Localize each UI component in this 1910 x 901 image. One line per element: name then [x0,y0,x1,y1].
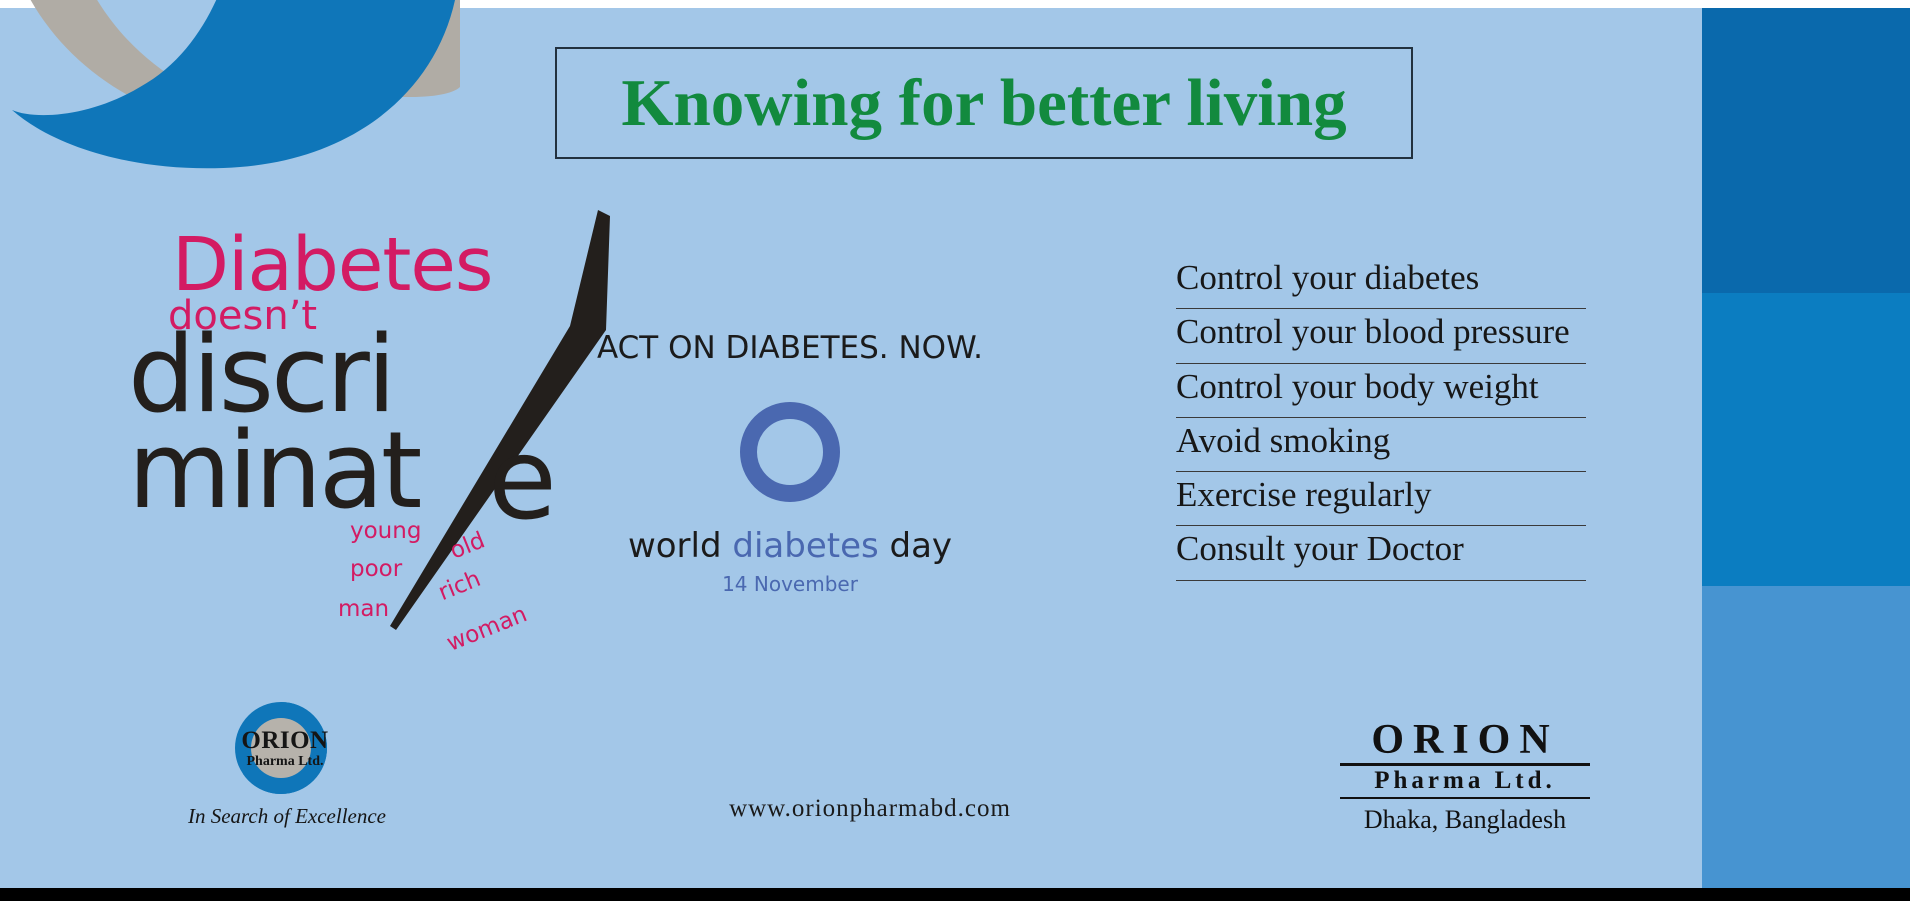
advice-item: Control your body weight [1176,364,1586,418]
advice-item-label: Avoid smoking [1176,421,1586,461]
orion-right-name: ORION [1340,718,1590,766]
advice-item-label: Control your diabetes [1176,258,1586,298]
wdd-word-diabetes: diabetes [732,526,878,566]
act-on-diabetes-line: ACT ON DIABETES. NOW. [560,330,1020,366]
orion-logo-right: ORION Pharma Ltd. Dhaka, Bangladesh [1340,718,1590,835]
advice-item: Control your diabetes [1176,258,1586,309]
wordart-diabetes: Diabetes [172,228,492,302]
advice-item-label: Consult your Doctor [1176,529,1586,569]
right-band-light [1702,586,1910,888]
advice-item: Exercise regularly [1176,472,1586,526]
wordart-e: e [488,424,557,536]
page-title: Knowing for better living [621,65,1346,142]
tagword-man: man [338,596,389,622]
advice-list: Control your diabetes Control your blood… [1176,258,1586,581]
poster-canvas: Knowing for better living Diabetes doesn… [0,0,1910,901]
orion-logo-left-wordmark: ORION Pharma Ltd. [215,728,355,771]
bottom-black-strip [0,888,1910,901]
advice-item: Consult your Doctor [1176,526,1586,580]
orion-left-name: ORION [215,728,355,753]
right-band-mid [1702,293,1910,586]
right-band-dark [1702,8,1910,293]
world-diabetes-day-label: world diabetes day [560,526,1020,566]
headline-box: Knowing for better living [555,47,1413,159]
advice-item-label: Control your body weight [1176,367,1586,407]
orion-right-subname: Pharma Ltd. [1340,766,1590,799]
advice-item: Control your blood pressure [1176,309,1586,363]
wdd-word-world: world [628,526,722,566]
swoosh-decoration-icon [0,0,460,182]
website-url[interactable]: www.orionpharmabd.com [700,795,1040,823]
orion-left-subname: Pharma Ltd. [215,753,355,771]
orion-tagline: In Search of Excellence [147,804,427,829]
wordart-minat: minat [128,418,419,524]
tagword-young: young [350,518,421,544]
orion-logo-left: ORION Pharma Ltd. In Search of Excellenc… [215,700,515,830]
center-block: ACT ON DIABETES. NOW. world diabetes day… [560,330,1020,610]
wdd-word-day: day [890,526,953,566]
advice-item-label: Control your blood pressure [1176,312,1586,352]
blue-circle-icon [740,402,840,502]
advice-item-label: Exercise regularly [1176,475,1586,515]
advice-item: Avoid smoking [1176,418,1586,472]
wdd-date: 14 November [560,572,1020,596]
tagword-poor: poor [350,556,402,582]
orion-right-city: Dhaka, Bangladesh [1340,804,1590,835]
